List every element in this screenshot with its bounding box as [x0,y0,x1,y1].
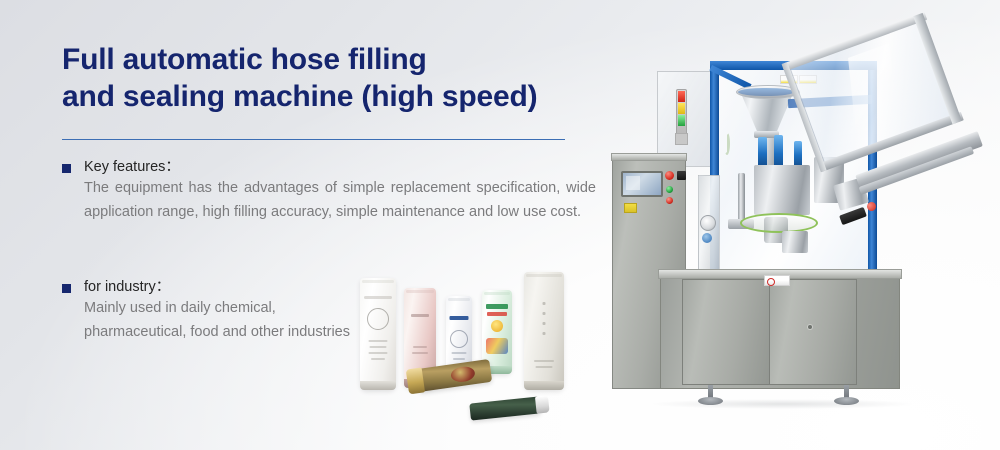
ce-label [624,203,637,213]
stack-light-base [675,133,688,145]
bullet-row-key-features: Key features： [62,158,596,176]
stop-button[interactable] [666,197,673,204]
floor-shadow [652,399,912,409]
start-button[interactable] [666,186,673,193]
stack-light-green [678,115,685,126]
filling-nozzle [738,173,745,221]
hose-tube-samples [342,252,604,432]
white-cap [535,395,550,413]
cabinet-door-lock[interactable] [808,325,812,329]
title-divider [62,139,565,140]
beige-large-tube [524,272,564,390]
power-switch[interactable] [677,171,686,180]
pneumatic-cylinder [774,135,783,169]
rotary-turntable [740,213,818,233]
base-cabinet-door-left[interactable] [682,279,770,385]
pneumatic-cylinder [758,137,767,167]
base-cabinet-door-right[interactable] [769,279,857,385]
feature-section-key-features: Key features： The equipment has the adva… [62,158,596,224]
sealing-head-assembly [754,165,810,215]
drive-column [782,231,808,253]
square-bullet-icon [62,284,71,293]
square-bullet-icon [62,164,71,173]
hopper-blue-band [738,88,794,96]
bullet-label-key-features: Key features： [84,158,180,176]
stack-light-yellow [678,103,685,114]
regulator-knob [702,233,712,243]
page-title-line1: Full automatic hose filling [62,42,592,77]
headline-block: Full automatic hose filling and sealing … [62,42,592,114]
bullet-label-for-industry: for industry： [84,278,170,296]
white-cosmetic-tube [360,278,396,390]
pressure-gauge [700,215,716,231]
feature-section-for-industry: for industry： Mainly used in daily chemi… [62,278,350,344]
hmi-touchscreen[interactable] [621,171,663,197]
gold-cap [406,367,425,394]
feed-hose [724,132,730,155]
stack-light-tower [676,89,687,135]
hose-filling-sealing-machine [612,25,1000,425]
adjustable-foot-pad [834,397,859,405]
warning-sticker [764,275,790,286]
page-title-line2: and sealing machine (high speed) [62,79,592,114]
stack-light-red [678,91,685,102]
tube-emblem [450,365,476,383]
emergency-stop-button[interactable] [665,171,674,180]
body-text-key-features: The equipment has the advantages of simp… [84,176,596,224]
body-text-for-industry: Mainly used in daily chemical, pharmaceu… [84,296,350,344]
product-banner: Full automatic hose filling and sealing … [0,0,1000,450]
adjustable-foot-pad [698,397,723,405]
pneumatic-cylinder [794,141,802,167]
bullet-row-for-industry: for industry： [62,278,350,296]
control-cabinet-top [611,153,687,161]
dark-green-small-tube [469,396,540,420]
